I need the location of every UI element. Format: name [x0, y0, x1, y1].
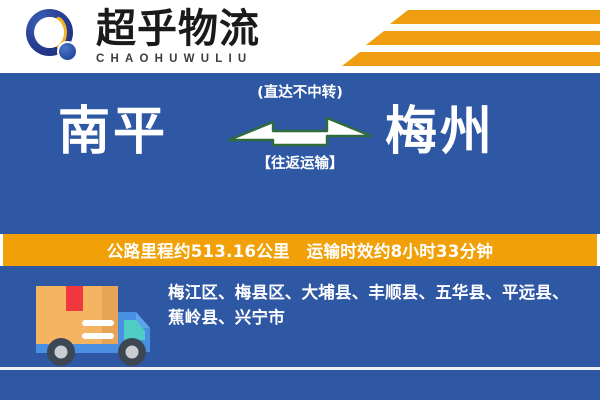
stripe-top	[390, 10, 600, 24]
banner-header: 超乎物流 CHAOHUWULIU	[0, 0, 600, 72]
direct-route-note: (直达不中转)	[225, 83, 375, 103]
logo-accent-dot	[57, 41, 78, 62]
route-middle-block: (直达不中转) 【往返运输】	[225, 83, 375, 174]
destination-city: 梅州	[385, 101, 495, 163]
brand-name-cn: 超乎物流	[96, 8, 296, 50]
stripe-middle	[366, 31, 600, 45]
logistics-route-banner: 超乎物流 CHAOHUWULIU 南平 (直达不中转) 【往返运输】 梅州 公路…	[0, 0, 600, 400]
coverage-districts: 梅江区、梅县区、大埔县、丰顺县、五华县、平远县、蕉岭县、兴宁市	[168, 280, 583, 330]
circle-crescent-logo-icon	[26, 9, 82, 65]
route-hero: 南平 (直达不中转) 【往返运输】 梅州	[0, 73, 600, 234]
origin-city: 南平	[58, 101, 168, 163]
route-info-text: 公路里程约513.16公里 运输时效约8小时33分钟	[107, 238, 493, 262]
route-info-bar: 公路里程约513.16公里 运输时效约8小时33分钟	[3, 234, 597, 266]
decorative-stripes	[330, 0, 600, 72]
roundtrip-note: 【往返运输】	[225, 154, 375, 174]
delivery-truck-icon	[28, 278, 158, 370]
brand-name-en: CHAOHUWULIU	[96, 52, 296, 66]
double-arrow-icon	[225, 109, 375, 149]
stripe-bottom	[342, 52, 600, 66]
brand-wordmark: 超乎物流 CHAOHUWULIU	[96, 8, 296, 66]
